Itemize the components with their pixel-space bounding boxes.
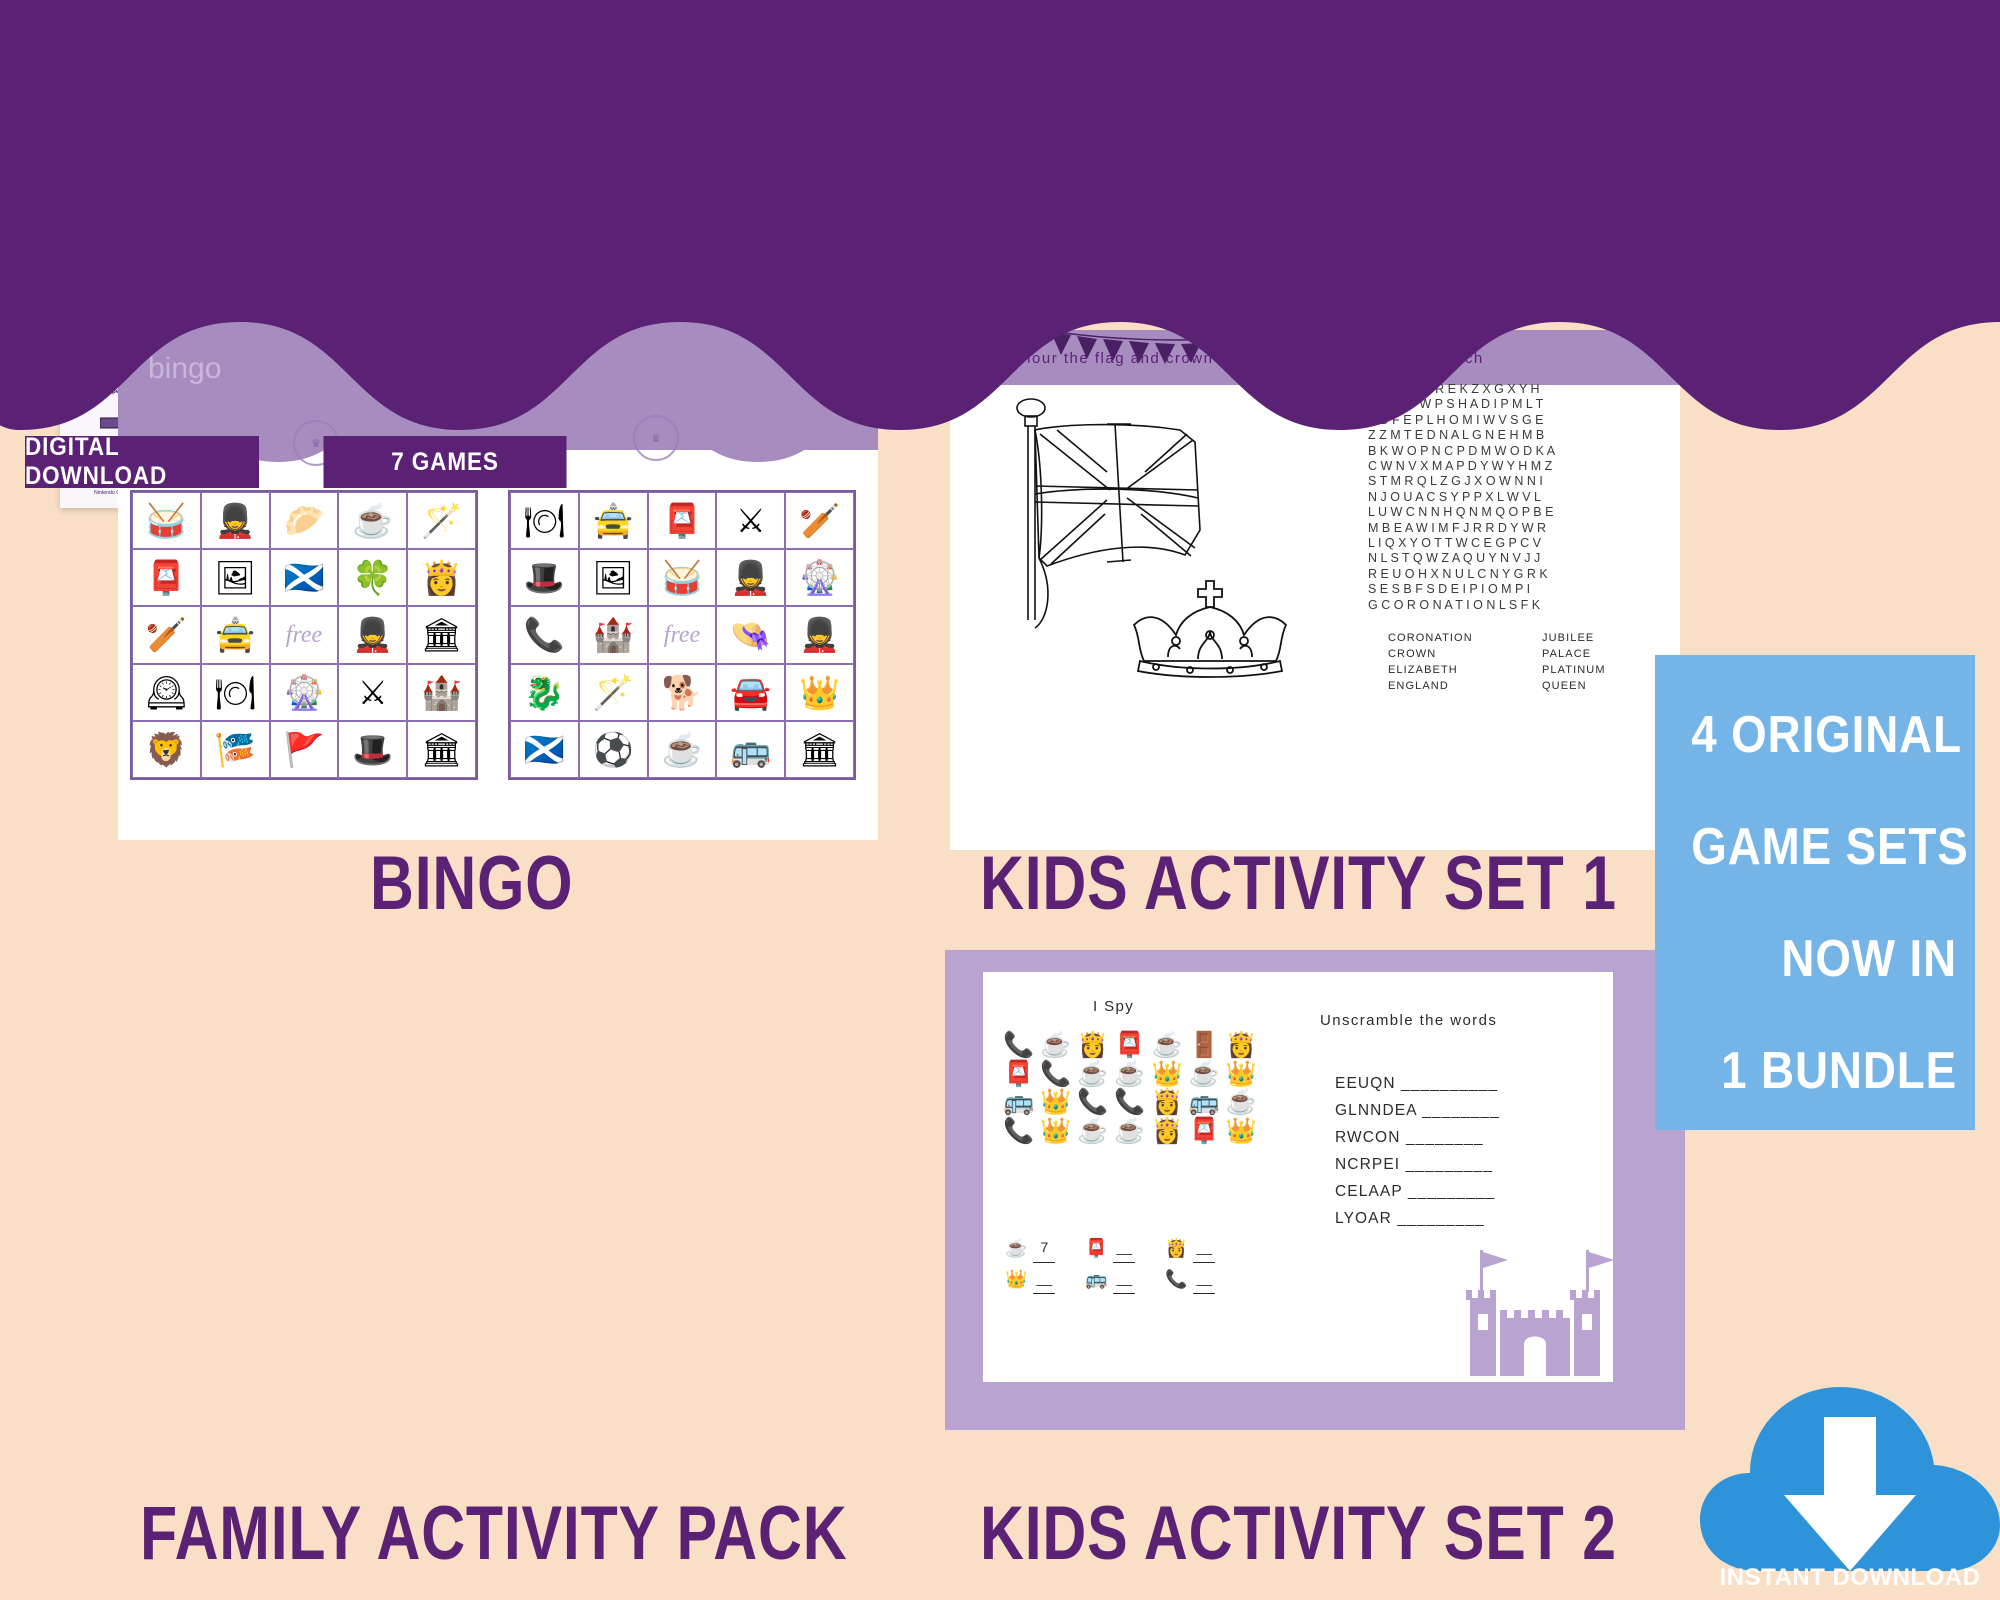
ispy-count-row[interactable]: ☕7📮__👸__👑__🚌__📞__ xyxy=(1005,1232,1255,1294)
unscramble-word-list[interactable]: EEUQN __________GLNNDEA ________RWCON __… xyxy=(1335,1070,1500,1232)
bingo-cell-hat-icon[interactable]: 👒 xyxy=(716,606,785,663)
ispy-item-icon: 🚌 xyxy=(1189,1089,1220,1116)
product-label-family: FAMILY ACTIVITY PACK xyxy=(140,1490,847,1577)
product-label-kids2: KIDS ACTIVITY SET 2 xyxy=(980,1490,1617,1577)
unscramble-row[interactable]: CELAAP _________ xyxy=(1335,1178,1500,1205)
bingo-cell-fish-and-chips-icon[interactable]: 🍽 xyxy=(510,492,579,549)
word-search-row: Z Z M T E D N A L G N E H M B xyxy=(1368,428,1555,443)
ispy-item-icon: 👸 xyxy=(1152,1118,1183,1145)
bingo-cell-telephone-box-icon[interactable]: 📮 xyxy=(132,549,201,606)
bingo-cell-carriage-icon[interactable]: 🚘 xyxy=(716,664,785,721)
bingo-cell-london-eye-icon[interactable]: 🎡 xyxy=(785,549,854,606)
kids1-wordsearch-caption: Word Search xyxy=(1380,350,1484,367)
bingo-cell-beefeater-icon[interactable]: 💂 xyxy=(785,606,854,663)
ispy-item-icon: ☕ xyxy=(1077,1061,1108,1088)
bingo-cell-black-cab-icon[interactable]: 🚖 xyxy=(579,492,648,549)
instant-download-badge[interactable]: INSTANT DOWNLOAD xyxy=(1700,1335,2000,1600)
bingo-cell-stamp-icon[interactable]: 🖼 xyxy=(579,549,648,606)
word-search-word: QUEEN xyxy=(1542,678,1606,694)
ispy-item-icon: ☕ xyxy=(1114,1061,1145,1088)
product-bingo-card[interactable]: e bingo Platinum Ju b ♛ ♛ 🥁💂🥟☕🪄📮🖼🏴󠁧󠁢󠁳󠁣󠁴󠁿… xyxy=(118,300,878,840)
ispy-item-icon: 🚌 xyxy=(1003,1089,1034,1116)
bingo-cell-st-pauls-icon[interactable]: 🏛 xyxy=(785,721,854,778)
bingo-cell-fish-and-chips-icon[interactable]: 🍽 xyxy=(201,664,270,721)
bingo-cell-st-pauls-icon[interactable]: 🏛 xyxy=(407,606,476,663)
double-decker-bus-icon: 🚌 xyxy=(1085,1264,1107,1294)
bingo-cell-teacup-icon[interactable]: ☕ xyxy=(648,721,717,778)
bingo-cell-knight-helmet-icon[interactable]: ⚔ xyxy=(716,492,785,549)
bingo-cell-bunting-icon[interactable]: 🎏 xyxy=(201,721,270,778)
bingo-card1-subtitle: bingo xyxy=(148,352,221,386)
bingo-card1-title: e xyxy=(158,318,173,349)
bingo-cell-castle-icon[interactable]: 🏰 xyxy=(407,664,476,721)
post-box-icon: 📮 xyxy=(1085,1233,1107,1263)
ispy-item-icon: 👸 xyxy=(1077,1032,1108,1059)
bingo-cell-wales-flag-icon[interactable]: 🐉 xyxy=(510,664,579,721)
ispy-item-icon: 🚪 xyxy=(1189,1032,1220,1059)
ispy-item-icon: 👑 xyxy=(1152,1061,1183,1088)
bingo-cell-corgi-icon[interactable]: 🐕 xyxy=(648,664,717,721)
bingo-cell-double-decker-bus-icon[interactable]: 🚌 xyxy=(716,721,785,778)
download-cloud-icon xyxy=(1700,1335,2000,1580)
bingo-cell-cricket-icon[interactable]: 🏏 xyxy=(785,492,854,549)
ispy-item-icon: ☕ xyxy=(1226,1089,1257,1116)
jubilee-seal-icon-2: ♛ xyxy=(633,415,679,461)
bingo-cell-bagpipes-icon[interactable]: 🥁 xyxy=(648,549,717,606)
bingo-card2-subtitle: b xyxy=(533,352,550,386)
ispy-item-icon: 👑 xyxy=(1040,1118,1071,1145)
count-value[interactable]: __ xyxy=(1113,1232,1135,1263)
product-kids-activity-set-1[interactable]: ♛ Colour the flag and crown Word Search xyxy=(950,330,1680,850)
bingo-cell-guard-icon[interactable]: 💂 xyxy=(716,549,785,606)
bingo-card2-title: Platinum Ju xyxy=(418,318,571,349)
teacup-icon: ☕ xyxy=(1005,1233,1027,1263)
ispy-item-icon: 👸 xyxy=(1226,1032,1257,1059)
word-search-row: N J O U A C S Y P P X L W V L xyxy=(1368,490,1555,505)
bingo-cell-stamp-icon[interactable]: 🖼 xyxy=(201,549,270,606)
ispy-caption: I Spy xyxy=(1093,998,1134,1015)
unscramble-scrambled-word: NCRPEI xyxy=(1335,1156,1406,1173)
header-banner xyxy=(0,0,2000,320)
ispy-item-icon: ☕ xyxy=(1040,1032,1071,1059)
ispy-item-icon: 📞 xyxy=(1040,1061,1071,1088)
ispy-item-icon: 📞 xyxy=(1003,1032,1034,1059)
count-item[interactable]: 📮__ xyxy=(1085,1232,1165,1263)
bingo-cell-bagpipes-icon[interactable]: 🥁 xyxy=(132,492,201,549)
unscramble-answer-blank[interactable]: _________ xyxy=(1397,1210,1484,1227)
count-item[interactable]: 🚌__ xyxy=(1085,1263,1165,1294)
word-search-row: M B E A W I M F J R R D Y W R xyxy=(1368,521,1555,536)
bingo-cell-guard-icon[interactable]: 💂 xyxy=(201,492,270,549)
ispy-item-icon: 📮 xyxy=(1114,1032,1145,1059)
ispy-item-icon: ☕ xyxy=(1189,1061,1220,1088)
bingo-cell-bowler-hat-icon[interactable]: 🎩 xyxy=(338,721,407,778)
ispy-item-icon: ☕ xyxy=(1114,1118,1145,1145)
ispy-item-icon: ☕ xyxy=(1077,1118,1108,1145)
ispy-item-icon: ☕ xyxy=(1152,1032,1183,1059)
badge-line-1: 4 ORIGINAL xyxy=(1691,679,1957,791)
unscramble-row[interactable]: NCRPEI _________ xyxy=(1335,1151,1500,1178)
count-value[interactable]: __ xyxy=(1033,1263,1055,1294)
count-value[interactable]: __ xyxy=(1193,1232,1215,1263)
bingo-cell-sceptre-icon[interactable]: 🪄 xyxy=(579,664,648,721)
bingo-cell-big-ben-icon[interactable]: 🕰 xyxy=(132,664,201,721)
minicard-anagrams-lines: 1. AARLLSBO 2. ARMS HENDING 3. CALI 4. S… xyxy=(18,322,57,378)
bingo-cell-queen-head-icon[interactable]: 👸 xyxy=(407,549,476,606)
bingo-cell-beefeater-icon[interactable]: 💂 xyxy=(338,606,407,663)
unscramble-scrambled-word: CELAAP xyxy=(1335,1183,1408,1200)
queen-head-icon: 👸 xyxy=(1165,1233,1187,1263)
word-search-row: B K W O P N C P D M W O D K A xyxy=(1368,444,1555,459)
bingo-cell-football-icon[interactable]: ⚽ xyxy=(579,721,648,778)
unscramble-scrambled-word: LYOAR xyxy=(1335,1210,1397,1227)
unscramble-answer-blank[interactable]: ________ xyxy=(1406,1129,1484,1146)
bingo-cell-scotland-flag-icon[interactable]: 🏴󠁧󠁢󠁳󠁣󠁴󠁿 xyxy=(270,549,339,606)
bingo-cell-clover-icon[interactable]: 🍀 xyxy=(338,549,407,606)
unscramble-answer-blank[interactable]: _________ xyxy=(1408,1183,1495,1200)
ispy-item-icon: 📞 xyxy=(1003,1118,1034,1145)
word-search-row: L I Q X Y O T T W C E G P C V xyxy=(1368,536,1555,551)
badge-line-4: 1 BUNDLE xyxy=(1691,1015,1957,1127)
badge-line-3: NOW IN xyxy=(1691,903,1957,1015)
telephone-box-icon: 📞 xyxy=(1165,1264,1187,1294)
word-search-words-right: JUBILEEPALACEPLATINUMQUEEN xyxy=(1542,630,1606,694)
unscramble-row[interactable]: LYOAR _________ xyxy=(1335,1205,1500,1232)
word-search-word: ELIZABETH xyxy=(1388,662,1473,678)
ribbon-digital-download: DIGITAL DOWNLOAD xyxy=(25,436,259,488)
ispy-item-icon: 👸 xyxy=(1152,1089,1183,1116)
count-value[interactable]: __ xyxy=(1113,1263,1135,1294)
ispy-item-icon: 📞 xyxy=(1077,1089,1108,1116)
bingo-cell-free[interactable]: free xyxy=(648,606,717,663)
bingo-grid-card-1[interactable]: 🥁💂🥟☕🪄📮🖼🏴󠁧󠁢󠁳󠁣󠁴󠁿🍀👸🏏🚖free💂🏛🕰🍽🎡⚔🏰🦁🎏🚩🎩🏛 xyxy=(130,490,478,780)
bingo-cell-castle-icon[interactable]: 🏰 xyxy=(579,606,648,663)
bingo-cell-scotland-flag-icon[interactable]: 🏴󠁧󠁢󠁳󠁣󠁴󠁿 xyxy=(510,721,579,778)
unscramble-caption: Unscramble the words xyxy=(1320,1012,1497,1029)
bingo-cell-cricket-icon[interactable]: 🏏 xyxy=(132,606,201,663)
word-search-word: PLATINUM xyxy=(1542,662,1606,678)
word-search-word: JUBILEE xyxy=(1542,630,1606,646)
unscramble-row[interactable]: EEUQN __________ xyxy=(1335,1070,1500,1097)
crown-colouring-icon xyxy=(1120,575,1300,680)
bingo-cell-telephone-box-icon[interactable]: 📞 xyxy=(510,606,579,663)
unscramble-row[interactable]: GLNNDEA ________ xyxy=(1335,1097,1500,1124)
count-item[interactable]: ☕7 xyxy=(1005,1232,1085,1263)
bingo-cell-crown-icon[interactable]: 👑 xyxy=(785,664,854,721)
word-search-row: Y D F E P L H O M I W V S G E xyxy=(1368,413,1555,428)
bingo-cell-lion-icon[interactable]: 🦁 xyxy=(132,721,201,778)
word-search-words-left: CORONATIONCROWNELIZABETHENGLAND xyxy=(1388,630,1473,694)
product-label-bingo: BINGO xyxy=(370,840,573,927)
ribbon-7-games: 7 GAMES xyxy=(324,436,567,488)
word-search-row: N L S T Q W Z A Q U Y N V J J xyxy=(1368,551,1555,566)
word-search-row: G C O R O N A T I O N L S F K xyxy=(1368,598,1555,613)
bingo-cell-banner-crown-icon[interactable]: 🚩 xyxy=(270,721,339,778)
word-search-row: Y Q I F R B R E K Z X G X Y H xyxy=(1368,382,1555,397)
ispy-icon-grid: 📞☕👸📮☕🚪👸📮📞☕☕👑☕👑🚌👑📞📞👸🚌☕📞👑☕☕👸📮👑 xyxy=(1003,1032,1263,1144)
word-search-word: ENGLAND xyxy=(1388,678,1473,694)
product-kids-activity-set-2[interactable]: ♛ I Spy Unscramble the words 📞☕👸📮☕🚪👸📮📞☕☕… xyxy=(945,950,1685,1430)
bingo-cell-pasty-icon[interactable]: 🥟 xyxy=(270,492,339,549)
instant-download-label: INSTANT DOWNLOAD xyxy=(1700,1564,2000,1592)
kids1-colour-caption: Colour the flag and crown xyxy=(1005,350,1213,367)
bingo-cell-knight-helmet-icon[interactable]: ⚔ xyxy=(338,664,407,721)
word-search-row: R E U O H X N U L C N Y G R K xyxy=(1368,567,1555,582)
bingo-cell-bowler-hat-icon[interactable]: 🎩 xyxy=(510,549,579,606)
bingo-grid-card-2[interactable]: 🍽🚖📮⚔🏏🎩🖼🥁💂🎡📞🏰free👒💂🐉🪄🐕🚘👑🏴󠁧󠁢󠁳󠁣󠁴󠁿⚽☕🚌🏛 xyxy=(508,490,856,780)
bingo-cell-london-eye-icon[interactable]: 🎡 xyxy=(270,664,339,721)
ispy-item-icon: 📮 xyxy=(1189,1118,1220,1145)
bingo-cell-black-cab-icon[interactable]: 🚖 xyxy=(201,606,270,663)
ispy-item-icon: 👑 xyxy=(1040,1089,1071,1116)
unscramble-answer-blank[interactable]: __________ xyxy=(1401,1075,1498,1092)
unscramble-scrambled-word: GLNNDEA xyxy=(1335,1102,1422,1119)
crown-icon: 👑 xyxy=(1005,1264,1027,1294)
bingo-cell-teacup-icon[interactable]: ☕ xyxy=(338,492,407,549)
unscramble-row[interactable]: RWCON ________ xyxy=(1335,1124,1500,1151)
unscramble-answer-blank[interactable]: _________ xyxy=(1406,1156,1493,1173)
word-search-row: C W N V X M A P D Y W Y H M Z xyxy=(1368,459,1555,474)
count-value[interactable]: __ xyxy=(1193,1263,1215,1294)
unscramble-answer-blank[interactable]: ________ xyxy=(1422,1102,1500,1119)
word-search-word: CORONATION xyxy=(1388,630,1473,646)
badge-line-2: GAME SETS xyxy=(1691,791,1957,903)
bingo-cell-free[interactable]: free xyxy=(270,606,339,663)
count-item[interactable]: 👑__ xyxy=(1005,1263,1085,1294)
ispy-item-icon: 📮 xyxy=(1003,1061,1034,1088)
ispy-item-icon: 📞 xyxy=(1114,1089,1145,1116)
word-search-row: Q D U O W P S H A D I P M L T xyxy=(1368,397,1555,412)
word-search-word: CROWN xyxy=(1388,646,1473,662)
promo-badge-game-sets: 4 ORIGINAL GAME SETS NOW IN 1 BUNDLE xyxy=(1655,655,1975,1130)
word-search-row: S E S B F S D E I P I O M P I xyxy=(1368,582,1555,597)
ispy-item-icon: 👑 xyxy=(1226,1061,1257,1088)
bingo-cell-buckingham-palace-icon[interactable]: 🏛 xyxy=(407,721,476,778)
bingo-cell-post-box-icon[interactable]: 📮 xyxy=(648,492,717,549)
count-item[interactable]: 👸__ xyxy=(1165,1232,1245,1263)
count-value[interactable]: 7 xyxy=(1033,1232,1055,1263)
unscramble-scrambled-word: RWCON xyxy=(1335,1129,1406,1146)
bingo-cell-sceptre-icon[interactable]: 🪄 xyxy=(407,492,476,549)
word-search-grid: Y Q I F R B R E K Z X G X Y HQ D U O W P… xyxy=(1368,382,1555,613)
word-search-row: L U W C N N H Q N M Q O P B E xyxy=(1368,505,1555,520)
ispy-item-icon: 👑 xyxy=(1226,1118,1257,1145)
castle-icon xyxy=(1450,1240,1620,1385)
product-label-kids1: KIDS ACTIVITY SET 1 xyxy=(980,840,1617,927)
unscramble-scrambled-word: EEUQN xyxy=(1335,1075,1401,1092)
word-search-row: S T M R Q L Z G J X O W N N I xyxy=(1368,474,1555,489)
word-search-word: PALACE xyxy=(1542,646,1606,662)
count-item[interactable]: 📞__ xyxy=(1165,1263,1245,1294)
